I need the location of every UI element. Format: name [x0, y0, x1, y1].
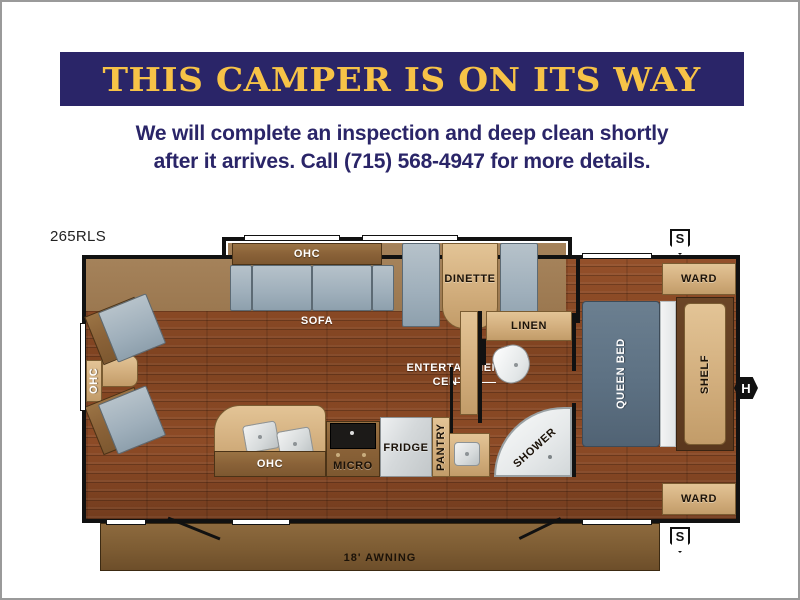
wardrobe-bottom: [662, 483, 736, 515]
flyer-page: THIS CAMPER IS ON ITS WAY We will comple…: [2, 2, 798, 598]
window-bedroom-bottom: [582, 519, 652, 525]
awning-label: 18' AWNING: [344, 552, 417, 564]
subtitle-line-2: after it arrives. Call (715) 568-4947 fo…: [42, 148, 762, 176]
bedroom-wall-upper: [576, 259, 580, 323]
subtitle-block: We will complete an inspection and deep …: [42, 120, 762, 176]
entertainment-center-cabinet: [460, 311, 478, 415]
fridge: [380, 417, 432, 477]
sink-drain-left: [258, 435, 262, 439]
sofa-arm-left: [230, 265, 252, 311]
linen-cabinet: [486, 311, 572, 341]
queen-bed: [582, 301, 660, 447]
floorplan-diagram: 18' AWNING OHC SOFA DINETTE OHC: [62, 227, 762, 547]
pantry: [432, 417, 450, 477]
s-marker-top: S: [670, 229, 690, 255]
window-rear-left: [106, 519, 146, 525]
headline-banner: THIS CAMPER IS ON ITS WAY: [60, 52, 744, 106]
s-marker-bottom: S: [670, 527, 690, 553]
bed-pillow-strip: [660, 301, 676, 447]
window-front-right: [362, 235, 458, 241]
subtitle-line-1: We will complete an inspection and deep …: [42, 120, 762, 148]
window-bedroom-top: [582, 253, 652, 259]
sofa-overhead-cabinet: [232, 243, 382, 265]
window-entry-door: [232, 519, 290, 525]
window-front-left: [244, 235, 340, 241]
kitchen-lower-cabinet: [214, 451, 326, 477]
toilet-flush-dot: [514, 363, 518, 367]
bath-wall-left: [482, 339, 486, 365]
cooktop-knob-left: [336, 453, 340, 457]
cooktop-burner: [350, 431, 354, 435]
bath-faucet-dot: [465, 452, 469, 456]
sink-drain-right: [293, 442, 297, 446]
window-left-wall: [80, 323, 86, 411]
sofa-arm-right: [372, 265, 394, 311]
sofa-cushion-left: [252, 265, 312, 311]
wardrobe-top: [662, 263, 736, 295]
sofa-cushion-right: [312, 265, 372, 311]
entertainment-center-wall: [478, 311, 482, 423]
cooktop: [330, 423, 376, 449]
cooktop-knob-right: [362, 453, 366, 457]
shelf: [684, 303, 726, 445]
left-wall-overhead-cabinet: [86, 360, 102, 402]
headline-text: THIS CAMPER IS ON ITS WAY: [103, 60, 701, 99]
awning-strip: 18' AWNING: [100, 523, 660, 571]
shower-drain: [548, 455, 552, 459]
dinette-bench-left: [402, 243, 440, 327]
